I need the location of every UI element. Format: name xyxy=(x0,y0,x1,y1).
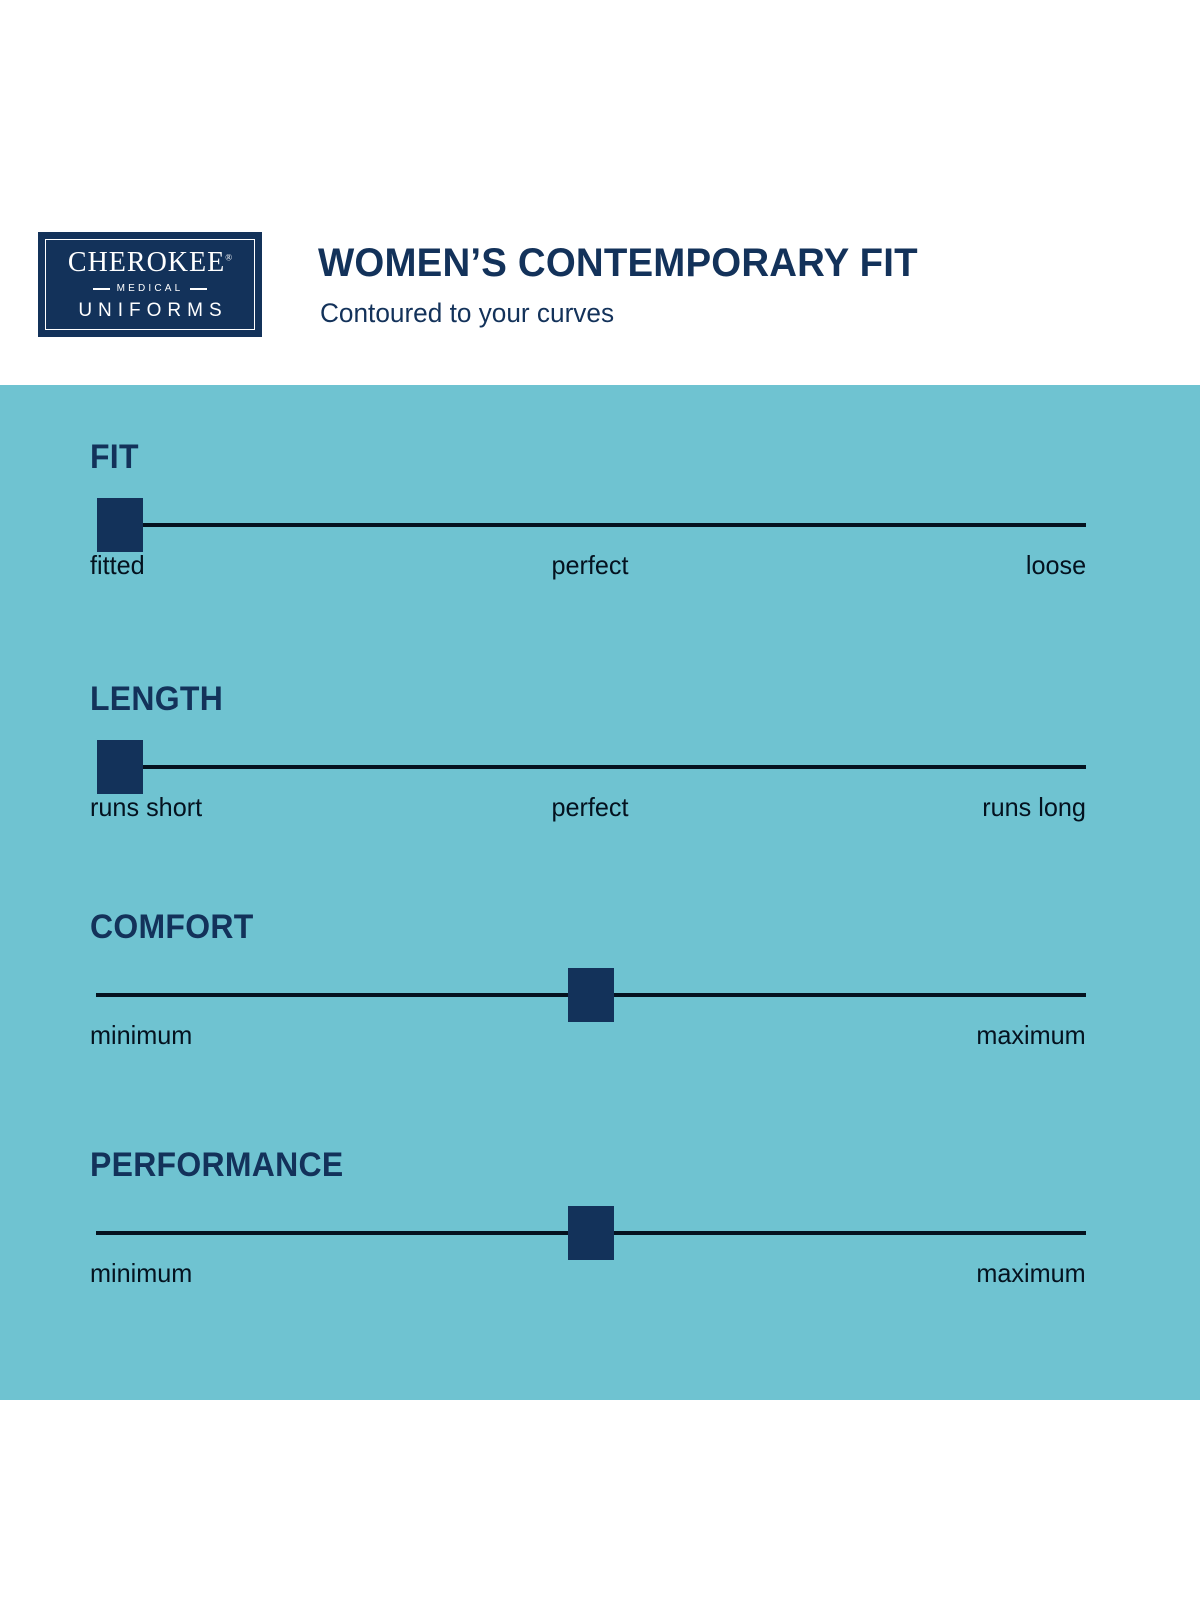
slider-label-right: runs long xyxy=(982,794,1086,820)
header: CHEROKEE® MEDICAL UNIFORMS WOMEN’S CONTE… xyxy=(0,0,1200,385)
logo-medical-row: MEDICAL xyxy=(46,284,254,294)
slider-heading: COMFORT xyxy=(90,910,254,944)
slider-marker[interactable] xyxy=(568,1206,614,1260)
slider-heading: PERFORMANCE xyxy=(90,1148,343,1182)
slider-track-area[interactable] xyxy=(0,1206,1200,1260)
slider-marker[interactable] xyxy=(568,968,614,1022)
slider-label-right: loose xyxy=(1026,552,1086,578)
slider-heading: LENGTH xyxy=(90,682,223,716)
slider-scale-labels: minimummaximum xyxy=(0,1022,1200,1056)
logo-brand-word: CHEROKEE xyxy=(68,247,225,278)
slider-label-right: maximum xyxy=(977,1022,1086,1048)
slider-track-area[interactable] xyxy=(0,740,1200,794)
slider-track[interactable] xyxy=(140,523,1086,527)
slider-track[interactable] xyxy=(140,765,1086,769)
slider-marker[interactable] xyxy=(97,498,143,552)
slider-label-center: perfect xyxy=(18,552,1163,578)
logo-dash-left-icon xyxy=(93,288,110,289)
slider-scale-labels: runs shortperfectruns long xyxy=(0,794,1200,828)
slider-label-left: minimum xyxy=(90,1260,192,1286)
slider-track-area[interactable] xyxy=(0,498,1200,552)
page-title: WOMEN’S CONTEMPORARY FIT xyxy=(318,243,918,283)
registered-trademark-icon: ® xyxy=(225,253,232,263)
page-subtitle: Contoured to your curves xyxy=(320,300,614,327)
slider-heading: FIT xyxy=(90,440,139,474)
logo-uniforms-text: UNIFORMS xyxy=(72,301,227,320)
logo-dash-right-icon xyxy=(190,288,207,289)
slider-label-right: maximum xyxy=(977,1260,1086,1286)
slider-track-area[interactable] xyxy=(0,968,1200,1022)
slider-scale-labels: fittedperfectloose xyxy=(0,552,1200,586)
slider-marker[interactable] xyxy=(97,740,143,794)
logo-brand-text: CHEROKEE® xyxy=(68,249,232,277)
logo-medical-text: MEDICAL xyxy=(117,284,184,294)
logo-inner-border: CHEROKEE® MEDICAL UNIFORMS xyxy=(45,239,255,330)
slider-scale-labels: minimummaximum xyxy=(0,1260,1200,1294)
slider-label-left: minimum xyxy=(90,1022,192,1048)
cherokee-medical-uniforms-logo: CHEROKEE® MEDICAL UNIFORMS xyxy=(38,232,262,337)
